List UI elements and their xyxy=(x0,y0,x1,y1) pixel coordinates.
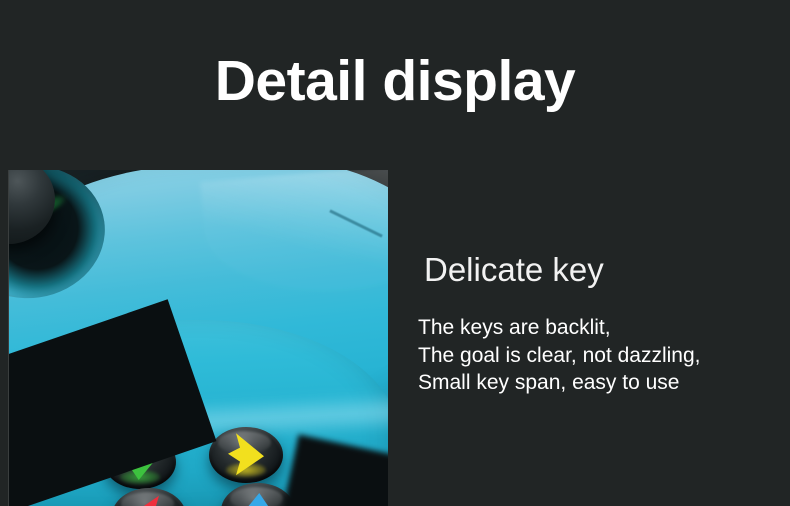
dpad-right-button[interactable] xyxy=(209,427,283,483)
arrow-down-icon xyxy=(234,491,283,506)
feature-description: The keys are backlit, The goal is clear,… xyxy=(418,314,778,396)
detail-display-banner: Detail display xyxy=(0,0,790,506)
feature-copy: Delicate key The keys are backlit, The g… xyxy=(418,252,778,396)
feature-line: Small key span, easy to use xyxy=(418,369,778,396)
arrow-left-icon xyxy=(129,492,169,506)
arrow-right-backlight xyxy=(226,463,266,477)
feature-line: The goal is clear, not dazzling, xyxy=(418,342,778,369)
feature-line: The keys are backlit, xyxy=(418,314,778,341)
product-photo xyxy=(8,170,388,506)
product-photo-canvas xyxy=(9,170,388,506)
page-title: Detail display xyxy=(0,52,790,112)
feature-heading: Delicate key xyxy=(424,252,778,288)
